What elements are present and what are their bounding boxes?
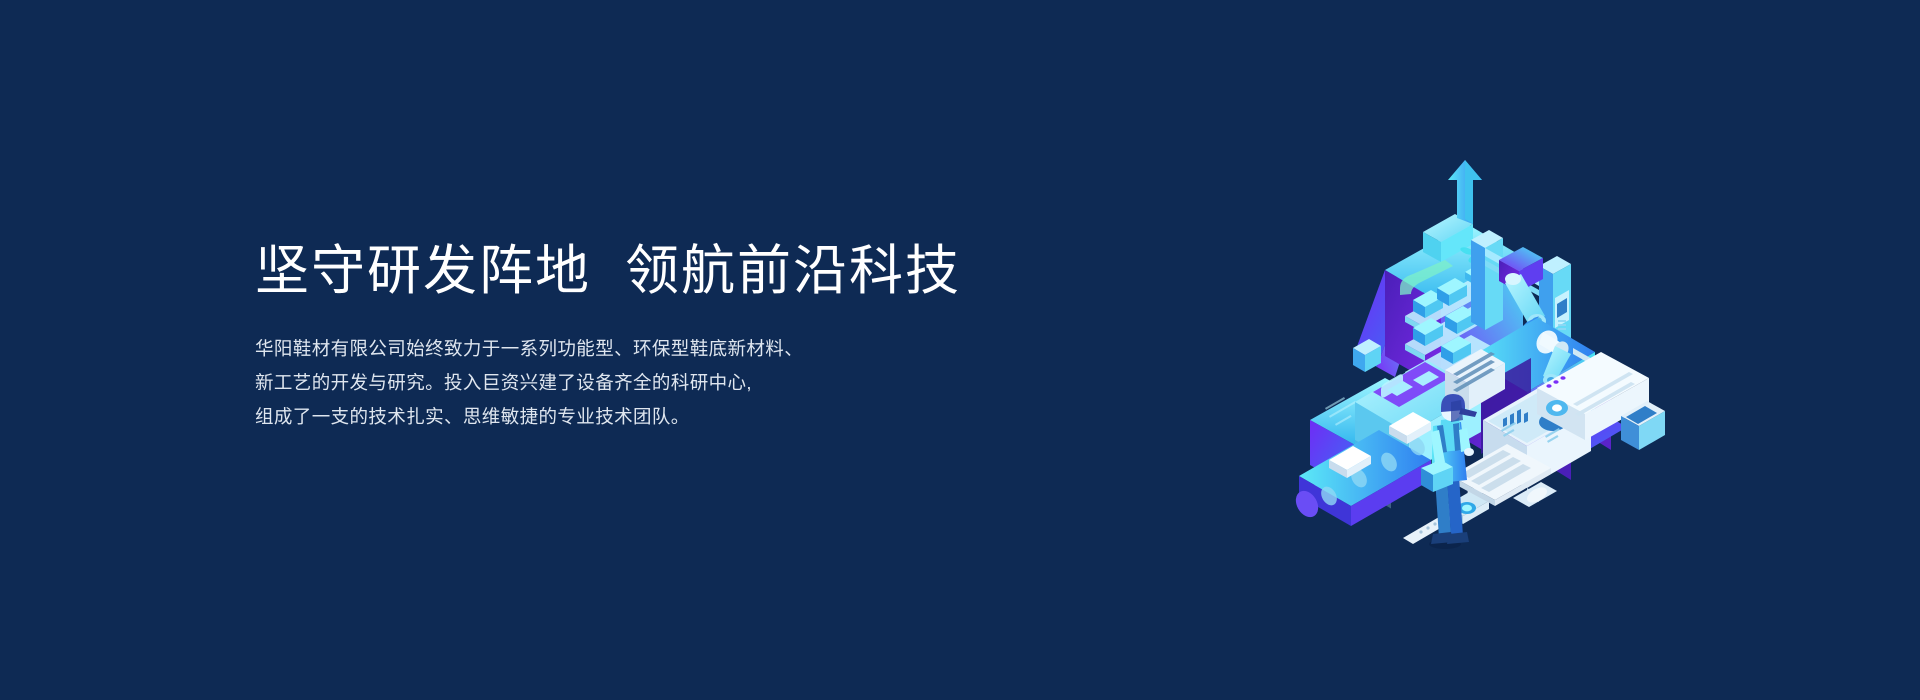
isometric-smart-factory-illustration: [1255, 120, 1715, 580]
hero-description: 华阳鞋材有限公司始终致力于一系列功能型、环保型鞋底新材料、 新工艺的开发与研究。…: [255, 332, 1075, 434]
hero-banner: 坚守研发阵地 领航前沿科技 华阳鞋材有限公司始终致力于一系列功能型、环保型鞋底新…: [0, 0, 1920, 700]
description-line-2: 新工艺的开发与研究。投入巨资兴建了设备齐全的科研中心,: [255, 366, 1075, 400]
hero-text-block: 坚守研发阵地 领航前沿科技 华阳鞋材有限公司始终致力于一系列功能型、环保型鞋底新…: [255, 240, 1075, 434]
small-block: [1353, 339, 1381, 372]
page-title: 坚守研发阵地 领航前沿科技: [255, 240, 1075, 302]
description-line-3: 组成了一支的技术扎实、思维敏捷的专业技术团队。: [255, 400, 1075, 434]
description-line-1: 华阳鞋材有限公司始终致力于一系列功能型、环保型鞋底新材料、: [255, 332, 1075, 366]
